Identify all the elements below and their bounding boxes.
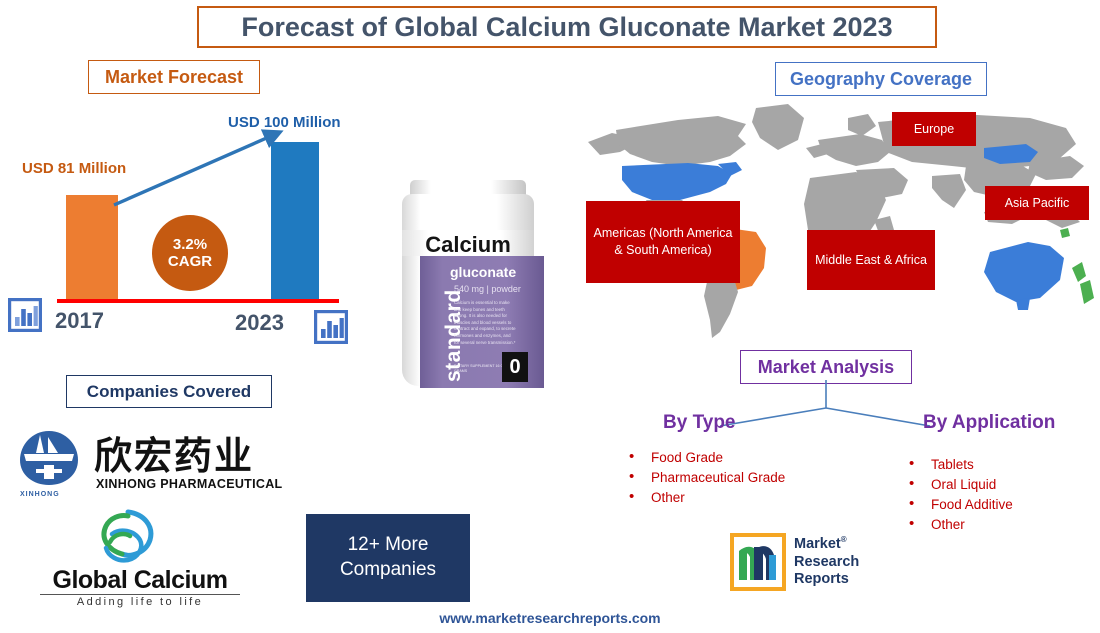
axis-label-2023: 2023 <box>235 310 284 336</box>
xinhong-mark-text: XINHONG <box>20 491 60 498</box>
cagr-badge: 3.2% CAGR <box>152 215 228 291</box>
xinhong-mark-icon <box>18 427 80 489</box>
page-title: Forecast of Global Calcium Gluconate Mar… <box>241 12 892 43</box>
mrr-line-1: Market® <box>794 535 859 554</box>
map-label-americas: Americas (North America & South America) <box>586 201 740 283</box>
global-calcium-mark-icon <box>88 508 160 570</box>
cagr-value: 3.2% <box>173 236 207 253</box>
axis-label-2017: 2017 <box>55 308 104 334</box>
list-item: Pharmaceutical Grade <box>625 468 785 488</box>
map-region-usa <box>622 163 732 200</box>
mrr-logo-frame <box>730 533 786 591</box>
map-label-middle-east-africa: Middle East & Africa <box>807 230 935 290</box>
world-map: Americas (North America & South America)… <box>560 100 1100 350</box>
analysis-heading-by-application: By Application <box>923 412 1055 434</box>
bar-chart-icon <box>314 310 348 344</box>
market-research-reports-logo: Market® Research Reports <box>730 533 890 595</box>
list-item: Tablets <box>905 455 1013 475</box>
chart-baseline <box>57 299 339 303</box>
company-logo-global-calcium: Global Calcium Adding life to life <box>40 508 240 613</box>
list-item: Other <box>905 515 1013 535</box>
mrr-line-3: Reports <box>794 571 859 589</box>
bottle-body: Calcium standard gluconate 540 mg | powd… <box>402 194 534 386</box>
product-subtitle: gluconate <box>450 264 516 280</box>
registered-trademark-icon: ® <box>841 535 847 544</box>
list-item: Other <box>625 488 785 508</box>
product-net-mark: 0 <box>502 352 528 382</box>
product-name: Calcium <box>406 232 530 258</box>
xinhong-english-name: XINHONG PHARMACEUTICAL <box>96 477 282 491</box>
section-header-companies: Companies Covered <box>66 375 272 408</box>
geography-label: Geography Coverage <box>790 69 972 90</box>
more-companies-badge: 12+ More Companies <box>306 514 470 602</box>
market-forecast-label: Market Forecast <box>105 67 243 88</box>
map-label-asia-pacific: Asia Pacific <box>985 186 1089 220</box>
map-region-new-zealand <box>1072 262 1086 282</box>
website-url[interactable]: www.marketresearchreports.com <box>0 610 1100 626</box>
bar-chart-icon <box>8 298 42 332</box>
more-companies-line1: 12+ More <box>340 533 436 558</box>
bar-2017 <box>66 195 118 300</box>
xinhong-chinese-name: 欣宏药业 <box>94 425 254 480</box>
page-title-box: Forecast of Global Calcium Gluconate Mar… <box>197 6 937 48</box>
analysis-list-by-application: Tablets Oral Liquid Food Additive Other <box>905 455 1013 535</box>
mrr-logo-wordmark: Market® Research Reports <box>794 535 859 589</box>
product-dose: 540 mg | powder <box>454 284 521 294</box>
companies-label: Companies Covered <box>87 382 251 402</box>
analysis-heading-by-type: By Type <box>663 412 736 434</box>
analysis-list-by-type: Food Grade Pharmaceutical Grade Other <box>625 448 785 508</box>
section-header-market-analysis: Market Analysis <box>740 350 912 384</box>
mrr-m-glyph-icon <box>734 537 782 587</box>
product-bottle-image: Calcium standard gluconate 540 mg | powd… <box>388 178 548 390</box>
mrr-line-2: Research <box>794 554 859 572</box>
section-header-market-forecast: Market Forecast <box>88 60 260 94</box>
global-calcium-tagline: Adding life to life <box>40 594 240 608</box>
global-calcium-name: Global Calcium <box>40 566 240 595</box>
infographic-canvas: Forecast of Global Calcium Gluconate Mar… <box>0 0 1100 633</box>
market-analysis-label: Market Analysis <box>758 357 894 378</box>
mrr-word-market: Market <box>794 536 841 552</box>
growth-arrow-icon <box>110 125 290 210</box>
product-description: Calcium is essential to make and keep bo… <box>454 300 516 346</box>
map-label-europe: Europe <box>892 112 976 146</box>
list-item: Food Grade <box>625 448 785 468</box>
list-item: Oral Liquid <box>905 475 1013 495</box>
section-header-geography: Geography Coverage <box>775 62 987 96</box>
more-companies-line2: Companies <box>340 558 436 583</box>
company-logo-xinhong: XINHONG 欣宏药业 XINHONG PHARMACEUTICAL <box>12 425 292 505</box>
map-region-australia <box>984 242 1064 302</box>
bottle-label-panel: standard gluconate 540 mg | powder Calci… <box>420 256 544 388</box>
cagr-label: CAGR <box>168 253 212 270</box>
list-item: Food Additive <box>905 495 1013 515</box>
